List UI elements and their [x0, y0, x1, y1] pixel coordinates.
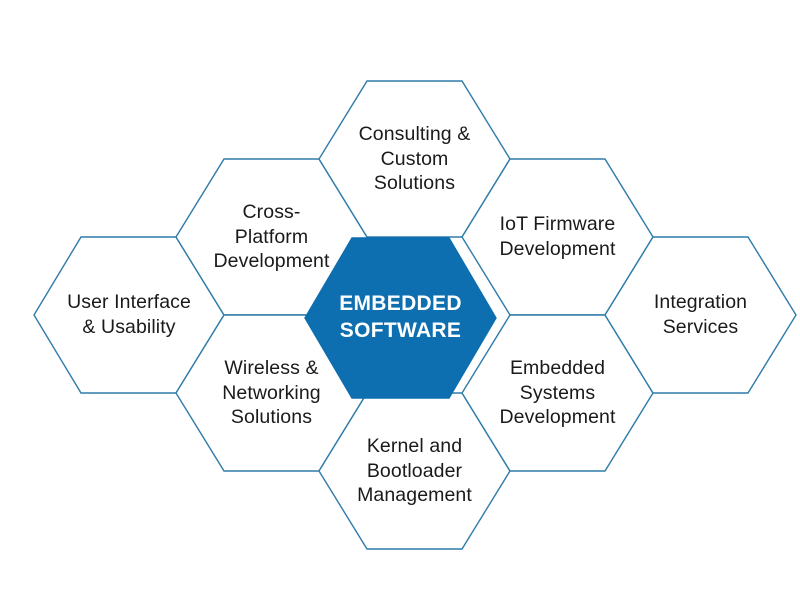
honeycomb-diagram: User Interface& Usability Cross-Platform…: [0, 0, 800, 600]
hexagon-shapes-layer: [0, 0, 800, 600]
